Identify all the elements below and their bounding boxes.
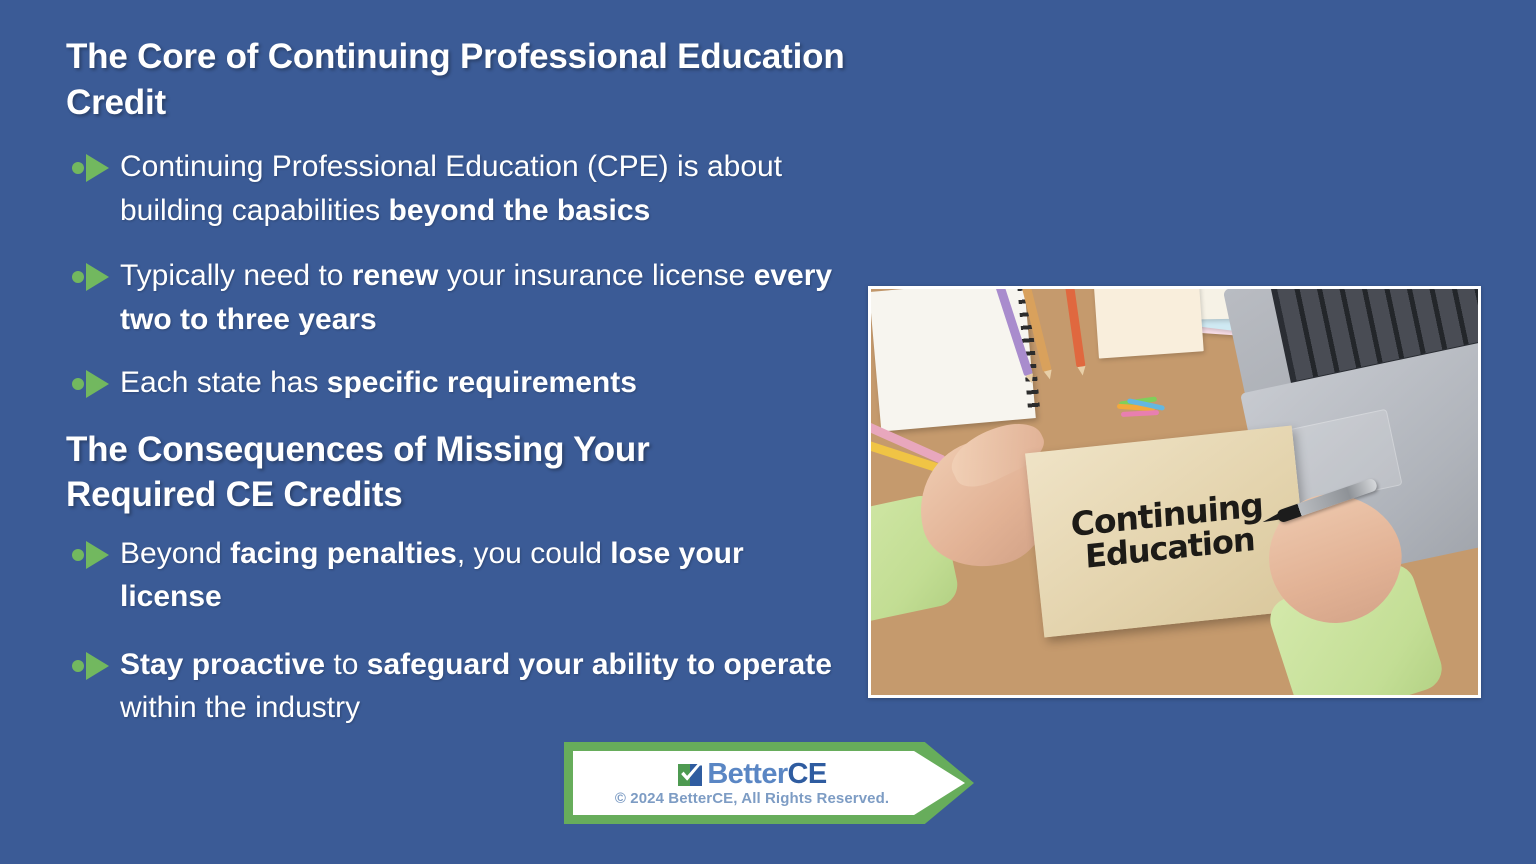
bullet-5-text: Stay proactive to safeguard your ability… [120,643,850,730]
paper-clips [1117,399,1167,419]
badge-inner: BetterCE © 2024 BetterCE, All Rights Res… [573,751,965,815]
play-bullet-icon [66,538,120,572]
play-bullet-icon [66,151,120,185]
brand-name: BetterCE [707,760,826,789]
photo-frame: Continuing Education [868,286,1481,698]
bullet-4-text: Beyond facing penalties, you could lose … [120,532,850,619]
bullet-list-top: Continuing Professional Education (CPE) … [66,145,880,405]
play-bullet-icon [66,367,120,401]
brand-logo: BetterCE [677,760,826,789]
checkmark-square-icon [677,761,704,788]
list-item: Each state has specific requirements [66,361,880,405]
slide-root: The Core of Continuing Professional Educ… [0,0,1536,864]
bullet-1-text: Continuing Professional Education (CPE) … [120,145,880,232]
play-bullet-icon [66,649,120,683]
brand-name-part-1: Better [707,758,787,790]
list-item: Continuing Professional Education (CPE) … [66,145,880,232]
content-column: The Core of Continuing Professional Educ… [0,0,880,730]
bullet-3-text: Each state has specific requirements [120,361,637,405]
play-bullet-icon [66,260,120,294]
bullet-2-text: Typically need to renew your insurance l… [120,254,880,341]
sticky-note-peach [1093,289,1203,359]
handwritten-card: Continuing Education [1025,425,1311,637]
copyright-text: © 2024 BetterCE, All Rights Reserved. [615,790,889,807]
list-item: Typically need to renew your insurance l… [66,254,880,341]
page-title: The Core of Continuing Professional Educ… [66,34,880,125]
section-title: The Consequences of Missing Your Require… [66,427,756,518]
desk-photo: Continuing Education [871,289,1478,695]
brand-name-part-2: CE [788,758,827,790]
list-item: Stay proactive to safeguard your ability… [66,643,880,730]
list-item: Beyond facing penalties, you could lose … [66,532,880,619]
footer-badge: BetterCE © 2024 BetterCE, All Rights Res… [564,742,974,824]
bullet-list-bottom: Beyond facing penalties, you could lose … [66,532,880,730]
